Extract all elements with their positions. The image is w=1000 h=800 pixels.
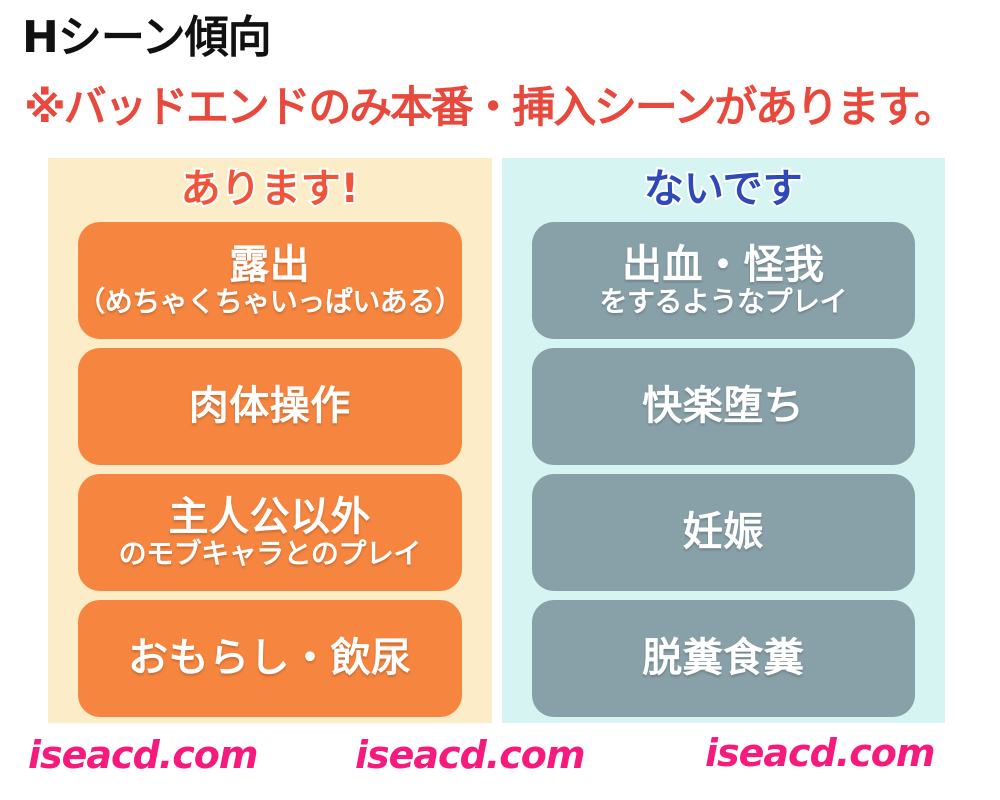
pill-main-label: 脱糞食糞 (642, 636, 804, 681)
watermark-band: iseacd.com iseacd.com iseacd.com (0, 723, 1000, 800)
list-item[interactable]: おもらし・飲尿 (78, 600, 462, 717)
list-item[interactable]: 肉体操作 (78, 348, 462, 465)
page-subtitle-note: ※バッドエンドのみ本番・挿入シーンがあります。 (24, 84, 955, 133)
pill-main-label: 妊娠 (683, 510, 764, 555)
pill-main-label: 露出 (229, 243, 310, 288)
pill-main-label: 出血・怪我 (622, 243, 825, 288)
pill-list-yes: 露出 （めちゃくちゃいっぱいある） 肉体操作 主人公以外 のモブキャラとのプレイ… (48, 222, 492, 717)
list-item[interactable]: 快楽堕ち (532, 348, 916, 465)
page-title: Hシーン傾向 (22, 14, 271, 62)
pill-main-label: おもらし・飲尿 (128, 636, 412, 681)
header-area: Hシーン傾向 ※バッドエンドのみ本番・挿入シーンがあります。 (0, 0, 1000, 152)
column-header-yes: あります! (48, 166, 492, 222)
pill-sub-label: （めちゃくちゃいっぱいある） (78, 286, 462, 317)
pill-list-no: 出血・怪我 をするようなプレイ 快楽堕ち 妊娠 脱糞食糞 (502, 222, 946, 717)
column-no: ないです 出血・怪我 をするようなプレイ 快楽堕ち 妊娠 脱糞食糞 (502, 158, 946, 723)
list-item[interactable]: 露出 （めちゃくちゃいっぱいある） (78, 222, 462, 339)
pill-sub-label: をするようなプレイ (599, 286, 847, 317)
column-yes: あります! 露出 （めちゃくちゃいっぱいある） 肉体操作 主人公以外 のモブキャ… (48, 158, 492, 723)
list-item[interactable]: 妊娠 (532, 474, 916, 591)
list-item[interactable]: 出血・怪我 をするようなプレイ (532, 222, 916, 339)
pill-main-label: 主人公以外 (169, 495, 372, 540)
watermark-text: iseacd.com (705, 731, 934, 775)
watermark-text: iseacd.com (28, 733, 257, 777)
pill-main-label: 肉体操作 (189, 384, 351, 429)
comparison-board: あります! 露出 （めちゃくちゃいっぱいある） 肉体操作 主人公以外 のモブキャ… (48, 158, 945, 723)
pill-main-label: 快楽堕ち (642, 384, 804, 429)
column-header-no: ないです (502, 166, 946, 222)
pill-sub-label: のモブキャラとのプレイ (119, 538, 421, 569)
watermark-text: iseacd.com (355, 733, 584, 777)
list-item[interactable]: 脱糞食糞 (532, 600, 916, 717)
list-item[interactable]: 主人公以外 のモブキャラとのプレイ (78, 474, 462, 591)
